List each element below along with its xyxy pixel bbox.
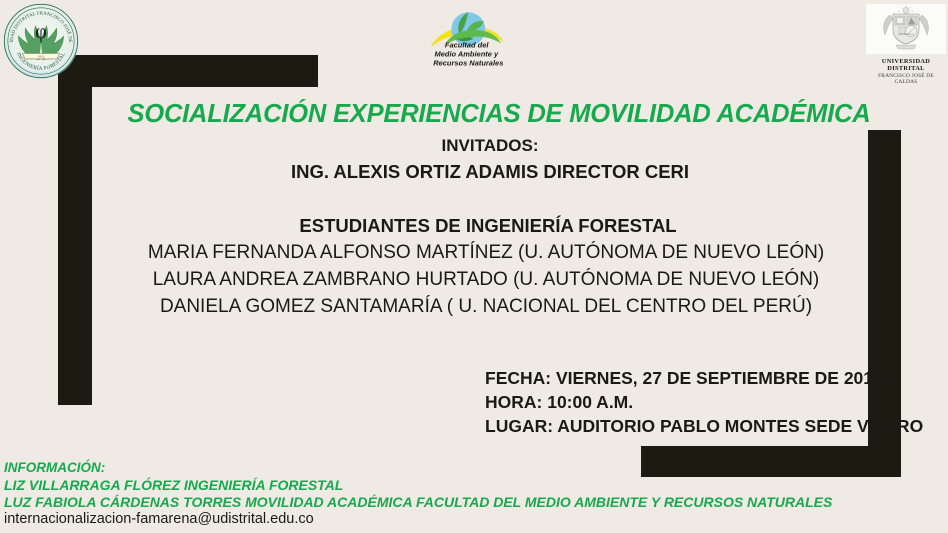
invitados-label: INVITADOS: bbox=[0, 136, 948, 156]
facultad-line2: Medio Ambiente y bbox=[435, 50, 499, 59]
coat-of-arms-line1: UNIVERSIDAD DISTRITAL bbox=[866, 58, 946, 73]
globe-leaf-icon: Facultad del Medio Ambiente y Recursos N… bbox=[428, 4, 506, 70]
facultad-line1: Facultad del bbox=[445, 40, 490, 49]
frame-bracket-bottom-right-horizontal bbox=[641, 446, 901, 477]
facultad-line3: Recursos Naturales bbox=[433, 59, 503, 68]
information-contact-1: LIZ VILLARRAGA FLÓREZ INGENIERÍA FORESTA… bbox=[4, 477, 343, 493]
information-contact-2: LUZ FABIOLA CÁRDENAS TORRES MOVILIDAD AC… bbox=[4, 494, 832, 510]
student-list-item: DANIELA GOMEZ SANTAMARÍA ( U. NACIONAL D… bbox=[0, 296, 948, 318]
student-list-item: MARIA FERNANDA ALFONSO MARTÍNEZ (U. AUTÓ… bbox=[0, 242, 948, 264]
svg-text:1952: 1952 bbox=[38, 55, 45, 59]
event-location: LUGAR: AUDITORIO PABLO MONTES SEDE VIVER… bbox=[485, 416, 923, 437]
invitee-name: ING. ALEXIS ORTIZ ADAMIS DIRECTOR CERI bbox=[0, 161, 948, 183]
coat-of-arms-line2: FRANCISCO JOSÉ DE CALDAS bbox=[866, 73, 946, 85]
student-list-item: LAURA ANDREA ZAMBRANO HURTADO (U. AUTÓNO… bbox=[0, 269, 948, 291]
facultad-medio-ambiente-logo: Facultad del Medio Ambiente y Recursos N… bbox=[428, 4, 506, 70]
frame-bracket-top-left-horizontal bbox=[68, 55, 318, 87]
event-time: HORA: 10:00 A.M. bbox=[485, 392, 633, 413]
students-heading: ESTUDIANTES DE INGENIERÍA FORESTAL bbox=[0, 215, 948, 237]
seal-icon: UNIVERSIDAD DISTRITAL FRANCISCO JOSÉ DE … bbox=[2, 2, 80, 80]
svg-text:φ: φ bbox=[35, 21, 47, 43]
event-date: FECHA: VIERNES, 27 DE SEPTIEMBRE DE 2019 bbox=[485, 368, 883, 389]
coat-of-arms-icon: UNIVERSIDAD bbox=[866, 4, 946, 54]
universidad-distrital-seal-logo: UNIVERSIDAD DISTRITAL FRANCISCO JOSÉ DE … bbox=[2, 2, 80, 80]
contact-email: internacionalizacion-famarena@udistrital… bbox=[4, 511, 314, 527]
information-label: INFORMACIÓN: bbox=[4, 460, 105, 475]
poster-title: SOCIALIZACIÓN EXPERIENCIAS DE MOVILIDAD … bbox=[0, 100, 948, 129]
universidad-distrital-coat-of-arms-logo: UNIVERSIDAD UNIVERSIDAD DISTRITAL FRANCI… bbox=[866, 4, 946, 54]
